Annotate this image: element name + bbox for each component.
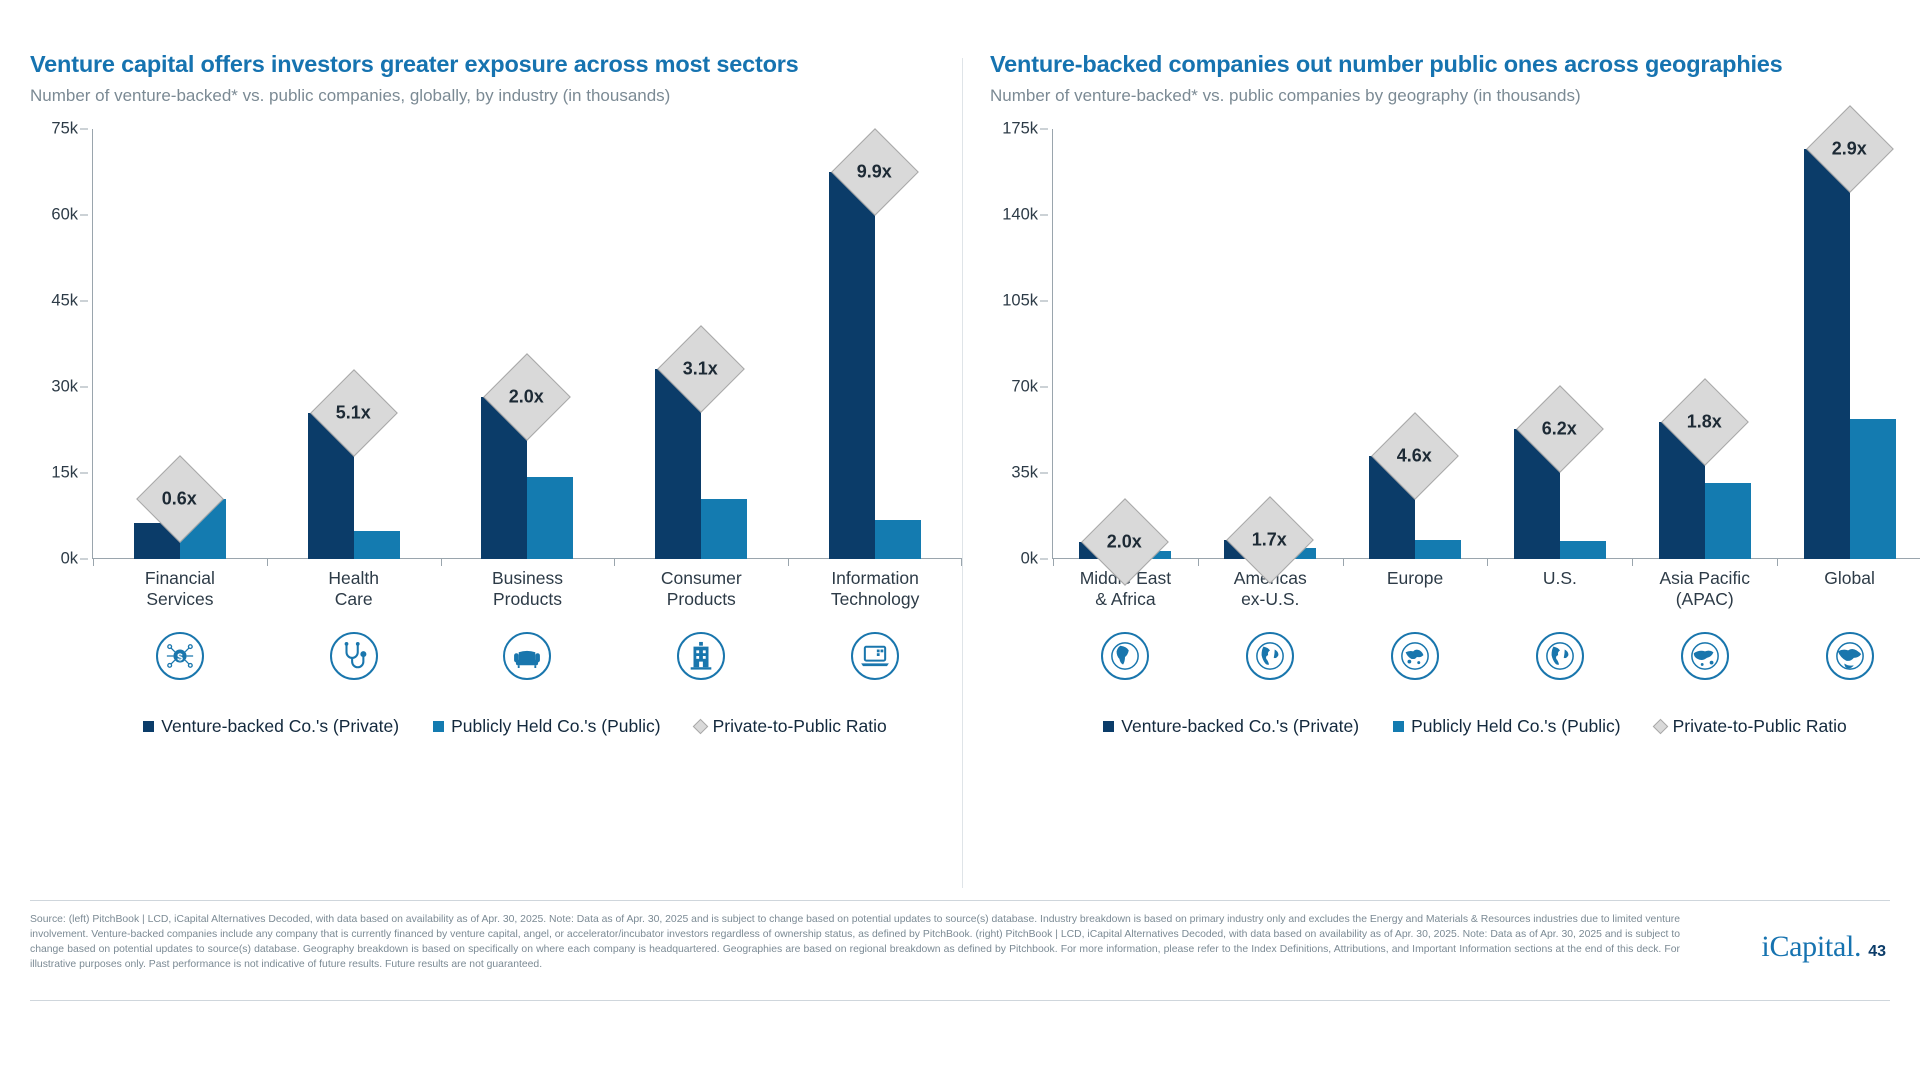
left-y-tick-mark bbox=[80, 215, 88, 216]
icon-cell bbox=[1632, 632, 1777, 680]
left-y-axis: 0k15k30k45k60k75k bbox=[30, 129, 92, 559]
stethoscope-icon bbox=[330, 632, 378, 680]
ratio-value-label: 3.1x bbox=[684, 358, 719, 379]
icon-cell bbox=[614, 632, 788, 680]
right-y-tick-label: 35k bbox=[1011, 464, 1038, 483]
bar-private[interactable] bbox=[829, 172, 875, 559]
icon-cell bbox=[1777, 632, 1920, 680]
legend-label: Publicly Held Co.'s (Public) bbox=[1411, 716, 1621, 737]
left-y-tick-mark bbox=[80, 473, 88, 474]
bar-public[interactable] bbox=[1850, 419, 1896, 559]
right-chart-subtitle: Number of venture-backed* vs. public com… bbox=[990, 85, 1920, 107]
right-chart-panel: Venture-backed companies out number publ… bbox=[990, 50, 1920, 880]
legend-square-swatch bbox=[433, 721, 444, 732]
category-label: ConsumerProducts bbox=[614, 568, 788, 610]
left-y-tick-label: 45k bbox=[51, 292, 78, 311]
legend-item[interactable]: Publicly Held Co.'s (Public) bbox=[433, 716, 661, 737]
left-legend: Venture-backed Co.'s (Private)Publicly H… bbox=[60, 716, 970, 737]
legend-square-swatch bbox=[1103, 721, 1114, 732]
footer-bottom-rule bbox=[30, 1000, 1890, 1001]
ratio-value-label: 1.8x bbox=[1687, 411, 1722, 432]
legend-label: Private-to-Public Ratio bbox=[1673, 716, 1847, 737]
x-tick-mark bbox=[441, 559, 442, 566]
bar-group: 3.1x bbox=[614, 129, 788, 559]
ratio-value-label: 6.2x bbox=[1542, 419, 1577, 440]
ratio-value-label: 2.0x bbox=[1108, 532, 1143, 553]
americas-globe-icon bbox=[1246, 632, 1294, 680]
legend-label: Private-to-Public Ratio bbox=[713, 716, 887, 737]
sofa-icon bbox=[503, 632, 551, 680]
x-tick-mark bbox=[788, 559, 789, 566]
legend-item[interactable]: Venture-backed Co.'s (Private) bbox=[1103, 716, 1359, 737]
legend-diamond-swatch bbox=[692, 719, 708, 735]
right-y-tick-label: 70k bbox=[1011, 378, 1038, 397]
bar-public[interactable] bbox=[1560, 541, 1606, 559]
africa-globe-icon bbox=[1101, 632, 1149, 680]
x-tick-mark bbox=[1343, 559, 1344, 566]
right-y-tick-label: 140k bbox=[1002, 206, 1038, 225]
left-y-tick-label: 0k bbox=[61, 550, 78, 569]
panel-divider bbox=[962, 58, 963, 888]
right-category-labels: Middle East& AfricaAmericasex-U.S.Europe… bbox=[1053, 568, 1920, 610]
bar-group: 5.1x bbox=[267, 129, 441, 559]
icon-cell: $ bbox=[93, 632, 267, 680]
x-tick-mark bbox=[1198, 559, 1199, 566]
x-tick-mark bbox=[1487, 559, 1488, 566]
left-chart-subtitle: Number of venture-backed* vs. public com… bbox=[30, 85, 970, 107]
bar-group: 2.9x bbox=[1777, 129, 1920, 559]
left-bar-groups: 0.6x5.1x2.0x3.1x9.9x bbox=[93, 129, 962, 559]
ratio-value-label: 2.9x bbox=[1832, 139, 1867, 160]
right-legend: Venture-backed Co.'s (Private)Publicly H… bbox=[1020, 716, 1920, 737]
icon-cell bbox=[267, 632, 441, 680]
europe-globe-icon bbox=[1391, 632, 1439, 680]
asia-globe-icon bbox=[1681, 632, 1729, 680]
left-y-tick-mark bbox=[80, 559, 88, 560]
legend-square-swatch bbox=[1393, 721, 1404, 732]
legend-label: Venture-backed Co.'s (Private) bbox=[161, 716, 399, 737]
right-y-tick-mark bbox=[1040, 301, 1048, 302]
category-label: InformationTechnology bbox=[788, 568, 962, 610]
icon-cell bbox=[1053, 632, 1198, 680]
page-number: 43 bbox=[1868, 943, 1886, 961]
icon-cell bbox=[1487, 632, 1632, 680]
left-y-tick-label: 60k bbox=[51, 206, 78, 225]
category-label: Europe bbox=[1343, 568, 1488, 610]
bar-public[interactable] bbox=[354, 531, 400, 560]
bar-public[interactable] bbox=[527, 477, 573, 559]
laptop-icon bbox=[851, 632, 899, 680]
category-label: Global bbox=[1777, 568, 1920, 610]
footnote-text: Source: (left) PitchBook | LCD, iCapital… bbox=[30, 912, 1680, 972]
right-bar-groups: 2.0x1.7x4.6x6.2x1.8x2.9x bbox=[1053, 129, 1920, 559]
category-label: Asia Pacific(APAC) bbox=[1632, 568, 1777, 610]
left-category-labels: FinancialServicesHealthCareBusinessProdu… bbox=[93, 568, 962, 610]
x-tick-mark bbox=[614, 559, 615, 566]
ratio-value-label: 1.7x bbox=[1253, 529, 1288, 550]
x-tick-mark bbox=[1053, 559, 1054, 566]
ratio-value-label: 5.1x bbox=[336, 403, 371, 424]
svg-text:$: $ bbox=[177, 653, 183, 664]
bar-group: 2.0x bbox=[1053, 129, 1198, 559]
right-y-tick-mark bbox=[1040, 559, 1048, 560]
right-y-tick-label: 105k bbox=[1002, 292, 1038, 311]
ratio-value-label: 4.6x bbox=[1398, 446, 1433, 467]
bar-public[interactable] bbox=[1415, 540, 1461, 560]
right-y-axis: 0k35k70k105k140k175k bbox=[990, 129, 1052, 559]
left-icon-row: $ bbox=[93, 632, 962, 680]
left-y-tick-mark bbox=[80, 301, 88, 302]
legend-label: Venture-backed Co.'s (Private) bbox=[1121, 716, 1359, 737]
category-label: HealthCare bbox=[267, 568, 441, 610]
right-chart-title: Venture-backed companies out number publ… bbox=[990, 50, 1920, 79]
right-y-tick-label: 175k bbox=[1002, 120, 1038, 139]
right-plot-canvas: 2.0x1.7x4.6x6.2x1.8x2.9x bbox=[1053, 129, 1920, 559]
legend-label: Publicly Held Co.'s (Public) bbox=[451, 716, 661, 737]
bar-public[interactable] bbox=[1705, 483, 1751, 559]
bar-group: 6.2x bbox=[1487, 129, 1632, 559]
left-y-tick-mark bbox=[80, 387, 88, 388]
ratio-value-label: 2.0x bbox=[510, 387, 545, 408]
left-chart-title: Venture capital offers investors greater… bbox=[30, 50, 970, 79]
slide-root: Venture capital offers investors greater… bbox=[0, 0, 1920, 1080]
icon-cell bbox=[1198, 632, 1343, 680]
ratio-value-label: 9.9x bbox=[858, 162, 893, 183]
left-y-tick-mark bbox=[80, 129, 88, 130]
world-globe-icon bbox=[1826, 632, 1874, 680]
right-y-tick-mark bbox=[1040, 215, 1048, 216]
icon-cell bbox=[441, 632, 615, 680]
right-icon-row bbox=[1053, 632, 1920, 680]
footer-top-rule bbox=[30, 900, 1890, 901]
x-tick-mark bbox=[1632, 559, 1633, 566]
right-plot-area: 0k35k70k105k140k175k 2.0x1.7x4.6x6.2x1.8… bbox=[990, 129, 1920, 559]
bar-group: 9.9x bbox=[788, 129, 962, 559]
icon-cell bbox=[1343, 632, 1488, 680]
bar-pair bbox=[1804, 149, 1896, 559]
legend-item[interactable]: Venture-backed Co.'s (Private) bbox=[143, 716, 399, 737]
bar-group: 0.6x bbox=[93, 129, 267, 559]
bar-group: 1.8x bbox=[1632, 129, 1777, 559]
americas-globe-icon bbox=[1536, 632, 1584, 680]
finance-dollar-network-icon: $ bbox=[156, 632, 204, 680]
bar-pair bbox=[829, 172, 921, 559]
bar-private[interactable] bbox=[1804, 149, 1850, 559]
right-y-tick-mark bbox=[1040, 129, 1048, 130]
x-tick-mark bbox=[93, 559, 94, 566]
bar-group: 4.6x bbox=[1343, 129, 1488, 559]
bar-group: 2.0x bbox=[441, 129, 615, 559]
bar-public[interactable] bbox=[701, 499, 747, 560]
legend-item[interactable]: Publicly Held Co.'s (Public) bbox=[1393, 716, 1621, 737]
left-y-tick-label: 75k bbox=[51, 120, 78, 139]
left-y-tick-label: 15k bbox=[51, 464, 78, 483]
brand-name-text: iCapital. bbox=[1761, 930, 1861, 964]
bar-public[interactable] bbox=[875, 520, 921, 559]
left-plot-canvas: 0.6x5.1x2.0x3.1x9.9x bbox=[93, 129, 962, 559]
category-label: BusinessProducts bbox=[441, 568, 615, 610]
category-label: U.S. bbox=[1487, 568, 1632, 610]
x-tick-mark bbox=[1777, 559, 1778, 566]
office-building-icon bbox=[677, 632, 725, 680]
left-chart-panel: Venture capital offers investors greater… bbox=[30, 50, 970, 880]
right-y-tick-mark bbox=[1040, 387, 1048, 388]
legend-diamond-swatch bbox=[1652, 719, 1668, 735]
bar-group: 1.7x bbox=[1198, 129, 1343, 559]
left-y-tick-label: 30k bbox=[51, 378, 78, 397]
category-label: FinancialServices bbox=[93, 568, 267, 610]
legend-item[interactable]: Private-to-Public Ratio bbox=[1655, 716, 1847, 737]
right-y-tick-mark bbox=[1040, 473, 1048, 474]
x-tick-mark bbox=[267, 559, 268, 566]
icon-cell bbox=[788, 632, 962, 680]
ratio-value-label: 0.6x bbox=[162, 488, 197, 509]
legend-item[interactable]: Private-to-Public Ratio bbox=[695, 716, 887, 737]
left-plot-area: 0k15k30k45k60k75k 0.6x5.1x2.0x3.1x9.9x bbox=[30, 129, 970, 559]
brand-logo: iCapital. 43 bbox=[1761, 930, 1886, 964]
legend-square-swatch bbox=[143, 721, 154, 732]
right-y-tick-label: 0k bbox=[1021, 550, 1038, 569]
